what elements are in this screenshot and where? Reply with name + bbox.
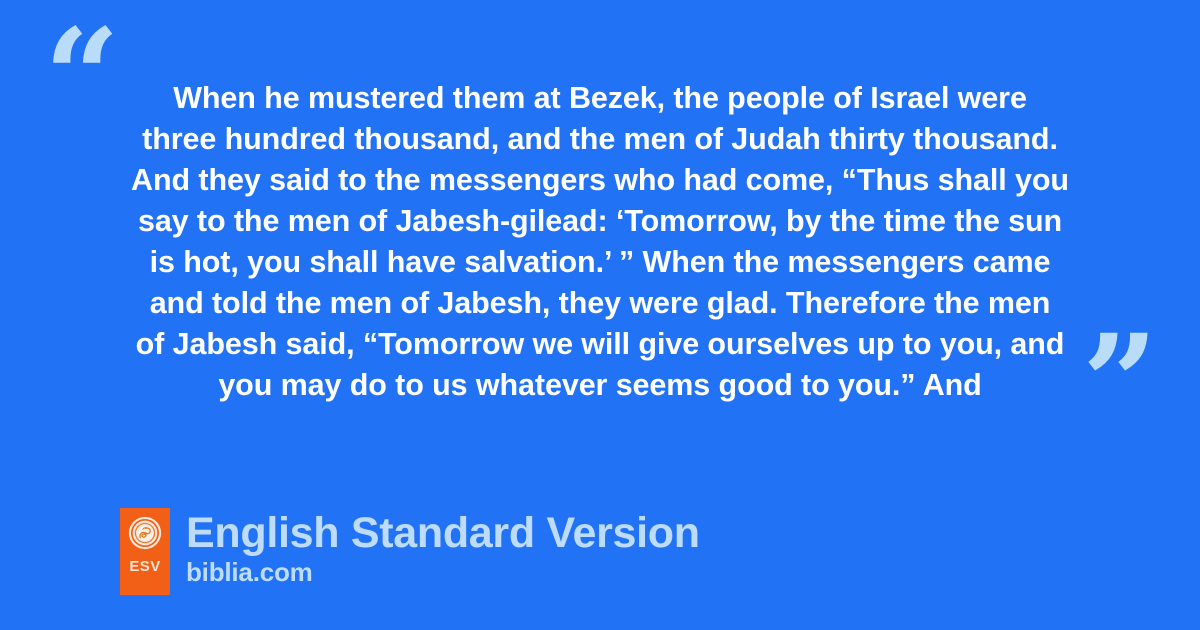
bible-version-name: English Standard Version (186, 510, 700, 556)
site-url-label: biblia.com (186, 558, 700, 586)
quote-line: And they said to the messengers who had … (100, 160, 1100, 201)
closing-quote-icon: ” (1082, 318, 1156, 450)
quote-line: is hot, you shall have salvation.’ ” Whe… (100, 242, 1100, 283)
quote-line: say to the men of Jabesh-gilead: ‘Tomorr… (100, 201, 1100, 242)
quote-line: When he mustered them at Bezek, the peop… (100, 78, 1100, 119)
quote-line: and told the men of Jabesh, they were gl… (100, 283, 1100, 324)
quote-line: three hundred thousand, and the men of J… (100, 119, 1100, 160)
bible-quote-card: “ When he mustered them at Bezek, the pe… (0, 0, 1200, 630)
quote-text-block: When he mustered them at Bezek, the peop… (100, 78, 1100, 406)
quote-line: you may do to us whatever seems good to … (100, 365, 1100, 406)
attribution-footer: ESV English Standard Version biblia.com (120, 508, 700, 595)
esv-seal-icon (128, 516, 162, 550)
attribution-text-group: English Standard Version biblia.com (186, 508, 700, 586)
quote-line: of Jabesh said, “Tomorrow we will give o… (100, 324, 1100, 365)
esv-abbreviation-label: ESV (129, 559, 160, 574)
esv-logo-tile: ESV (120, 508, 170, 595)
